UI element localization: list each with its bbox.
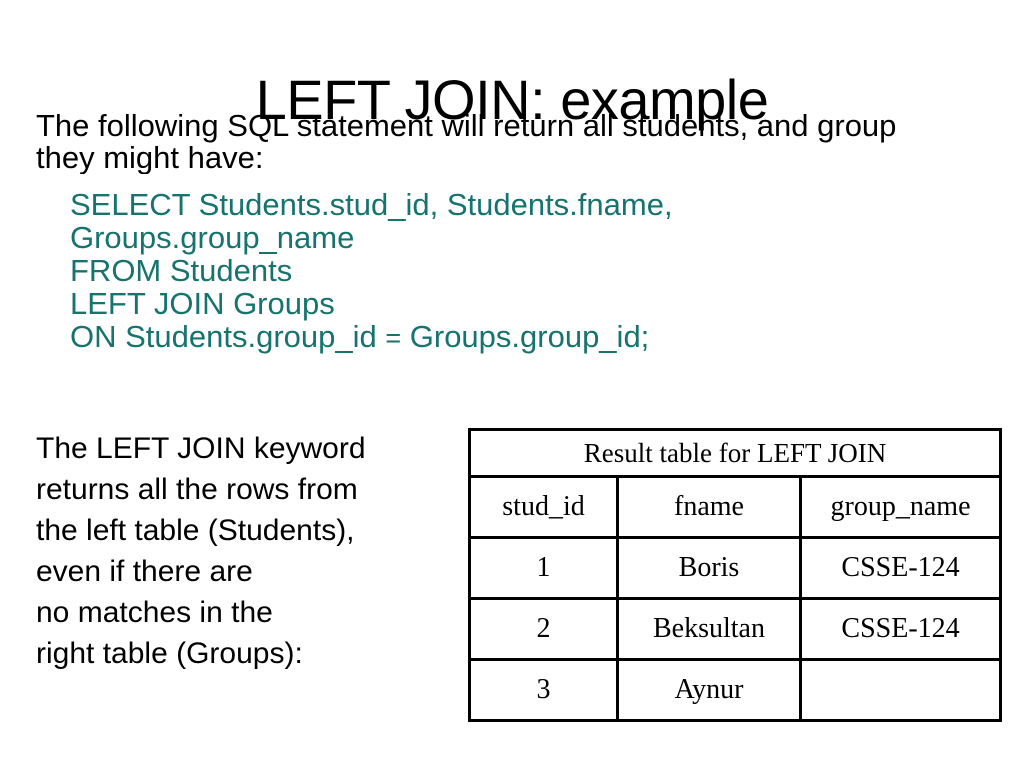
cell-group-name: CSSE-124 (801, 538, 1001, 599)
column-header-group-name: group_name (801, 477, 1001, 538)
cell-fname: Beksultan (618, 599, 801, 660)
cell-fname: Aynur (618, 660, 801, 721)
sql-on-suffix: Groups.group_id; (401, 319, 649, 354)
column-header-fname: fname (618, 477, 801, 538)
cell-fname: Boris (618, 538, 801, 599)
result-table-caption: Result table for LEFT JOIN (470, 430, 1001, 477)
sql-line-on: ON Students.group_id = Groups.group_id; (70, 320, 970, 355)
table-caption-row: Result table for LEFT JOIN (470, 430, 1001, 477)
cell-stud-id: 2 (470, 599, 618, 660)
sql-line-from: FROM Students (70, 254, 970, 287)
sql-statement-block: SELECT Students.stud_id, Students.fname,… (70, 188, 970, 355)
explanation-line-5: no matches in the (36, 592, 456, 633)
cell-group-name: CSSE-124 (801, 599, 1001, 660)
explanation-line-4: even if there are (36, 551, 456, 592)
explanation-line-2: returns all the rows from (36, 469, 456, 510)
result-table: Result table for LEFT JOIN stud_id fname… (468, 428, 1002, 722)
table-row: 1 Boris CSSE-124 (470, 538, 1001, 599)
intro-line-2: they might have: (36, 142, 1024, 174)
sql-line-select: SELECT Students.stud_id, Students.fname, (70, 188, 970, 221)
table-header-row: stud_id fname group_name (470, 477, 1001, 538)
cell-stud-id: 3 (470, 660, 618, 721)
intro-line-1: The following SQL statement will return … (36, 110, 1024, 142)
sql-on-prefix: ON Students.group_id (70, 319, 385, 354)
cell-group-name-empty (801, 660, 1001, 721)
table-row: 3 Aynur (470, 660, 1001, 721)
explanation-line-1: The LEFT JOIN keyword (36, 428, 456, 469)
intro-paragraph: The following SQL statement will return … (36, 110, 1024, 174)
slide-canvas: LEFT JOIN: example The following SQL sta… (0, 0, 1024, 767)
cell-stud-id: 1 (470, 538, 618, 599)
sql-equals-operator: = (385, 323, 401, 353)
sql-line-select-cont: Groups.group_name (70, 221, 970, 254)
explanation-line-6: right table (Groups): (36, 633, 456, 674)
table-row: 2 Beksultan CSSE-124 (470, 599, 1001, 660)
column-header-stud-id: stud_id (470, 477, 618, 538)
explanation-line-3: the left table (Students), (36, 510, 456, 551)
result-table-container: Result table for LEFT JOIN stud_id fname… (468, 428, 999, 722)
sql-line-join: LEFT JOIN Groups (70, 287, 970, 320)
explanation-paragraph: The LEFT JOIN keyword returns all the ro… (36, 428, 456, 674)
